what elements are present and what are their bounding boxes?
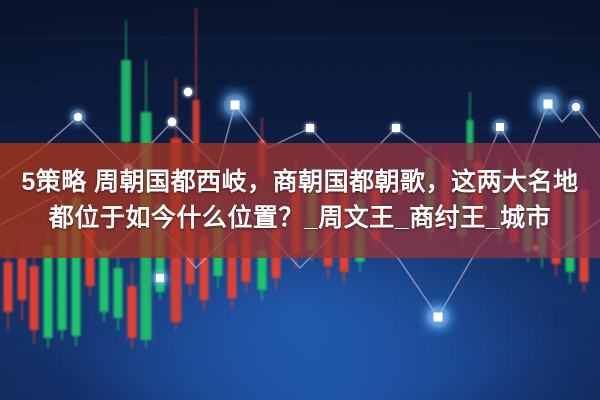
title-line-2: 都位于如今什么位置？_周文王_商纣王_城市 <box>49 203 551 234</box>
thumbnail-image: 5策略 周朝国都西岐，商朝国都朝歌，这两大名地 都位于如今什么位置？_周文王_商… <box>0 0 600 400</box>
title-line-1: 5策略 周朝国都西岐，商朝国都朝歌，这两大名地 <box>21 167 578 198</box>
title-block: 5策略 周朝国都西岐，商朝国都朝歌，这两大名地 都位于如今什么位置？_周文王_商… <box>0 143 600 258</box>
